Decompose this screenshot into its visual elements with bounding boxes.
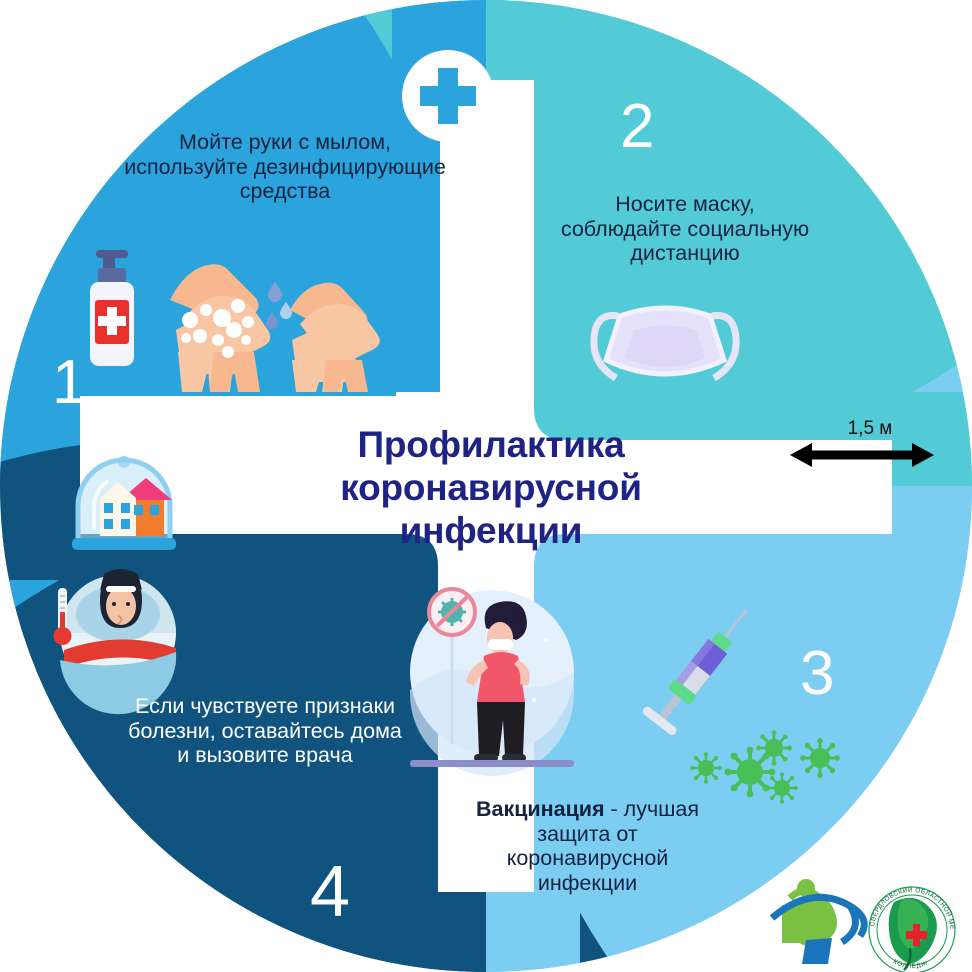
step-3-text-bold: Вакцинация bbox=[476, 797, 605, 821]
virus-particles-icon bbox=[690, 730, 840, 804]
step-4-text: Если чувствуете признаки болезни, остава… bbox=[120, 694, 410, 768]
page-title-line-3: инфекции bbox=[266, 510, 716, 553]
step-2-number: 2 bbox=[620, 96, 654, 158]
person-no-virus-icon bbox=[410, 589, 574, 776]
step-3-text: Вакцинация - лучшая защита от коронавиру… bbox=[455, 797, 720, 895]
distance-label: 1,5 м bbox=[810, 418, 930, 440]
house-under-dome-icon bbox=[72, 456, 176, 550]
step-3-number: 3 bbox=[800, 643, 834, 705]
syringe-icon bbox=[641, 598, 762, 737]
sick-woman-in-bed-icon bbox=[54, 569, 177, 714]
medical-cross-badge-icon bbox=[402, 50, 494, 142]
step-2-text: Носите маску, соблюдайте социальную дист… bbox=[560, 192, 810, 266]
face-mask-icon bbox=[594, 308, 736, 378]
infographic-poster: СВЕРДЛОВСКИЙ ОБЛАСТНОЙ МЕДИЦИНСКИЙ КОЛЛЕ… bbox=[0, 0, 972, 972]
rinsing-hands-icon bbox=[266, 282, 380, 392]
page-title-line-2: коронавирусной bbox=[266, 467, 716, 510]
no-virus-badge-icon bbox=[429, 589, 475, 635]
step-4-number: 4 bbox=[310, 856, 350, 928]
page-title: Профилактика коронавирусной инфекции bbox=[266, 424, 716, 553]
washing-hands-icon bbox=[170, 264, 270, 392]
minzdrav-leaf-logo bbox=[772, 879, 864, 964]
step-1-number: 1 bbox=[52, 352, 86, 414]
step-1-text: Мойте руки с мылом, используйте дезинфиц… bbox=[120, 130, 450, 204]
distance-arrow-icon bbox=[790, 443, 934, 467]
page-title-line-1: Профилактика bbox=[266, 424, 716, 467]
soap-bottle-icon bbox=[90, 250, 134, 366]
water-droplets-icon bbox=[266, 282, 292, 329]
